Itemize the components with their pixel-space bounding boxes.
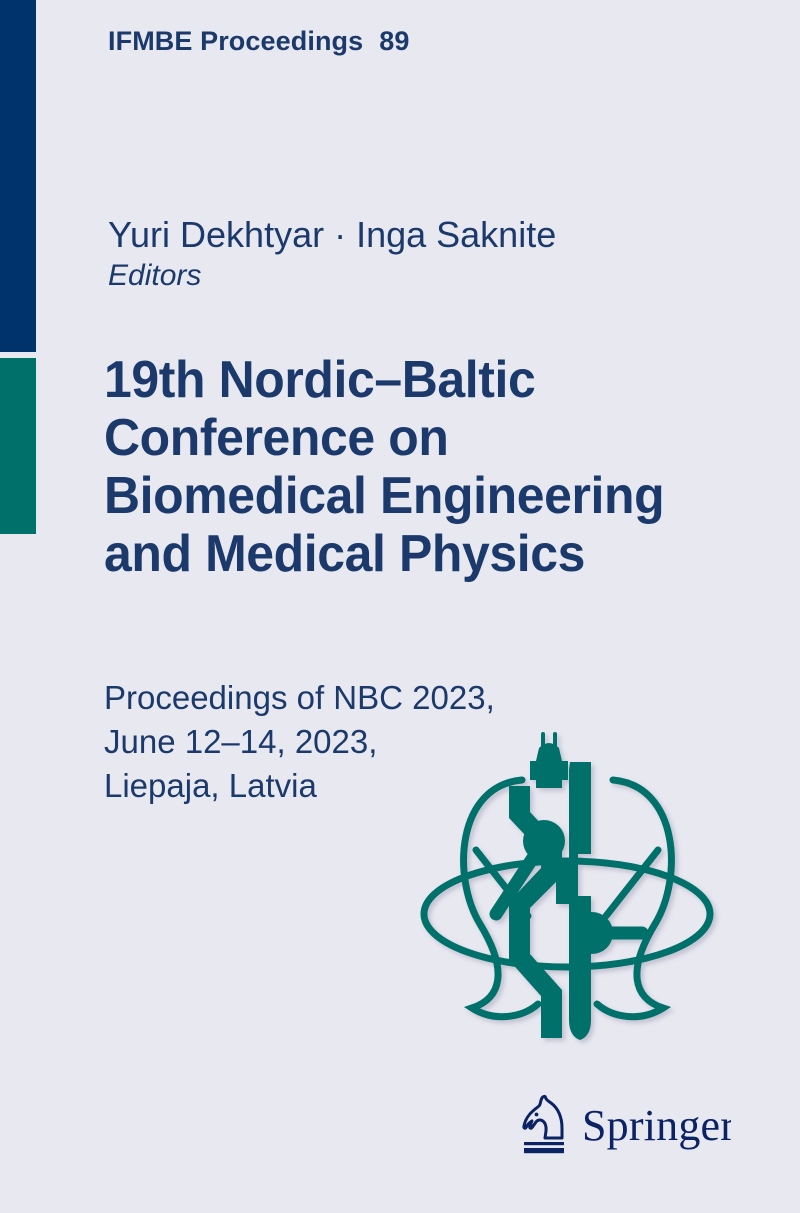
subtitle-line: Proceedings of NBC 2023, (104, 676, 564, 720)
series-number: 89 (379, 26, 409, 56)
spine-bar-navy (0, 0, 36, 352)
title-line: Biomedical Engineering (104, 468, 704, 526)
series-header: IFMBE Proceedings89 (108, 26, 409, 57)
springer-wordmark: Springer (582, 1101, 731, 1150)
ifmbe-atom-caduceus-logo (410, 728, 725, 1058)
spine-bar-teal (0, 358, 36, 534)
series-name: IFMBE Proceedings (108, 26, 363, 56)
editor-names: Yuri Dekhtyar · Inga Saknite (108, 216, 728, 255)
springer-logo: Springer (516, 1090, 731, 1162)
page-title: 19th Nordic–Baltic Conference on Biomedi… (104, 352, 729, 584)
book-cover: IFMBE Proceedings89 Yuri Dekhtyar · Inga… (0, 0, 800, 1213)
title-line: and Medical Physics (104, 526, 704, 584)
title-line: 19th Nordic–Baltic (104, 352, 704, 410)
editor-role: Editors (108, 259, 728, 294)
title-line: Conference on (104, 410, 704, 468)
editors-block: Yuri Dekhtyar · Inga Saknite Editors (108, 216, 728, 293)
